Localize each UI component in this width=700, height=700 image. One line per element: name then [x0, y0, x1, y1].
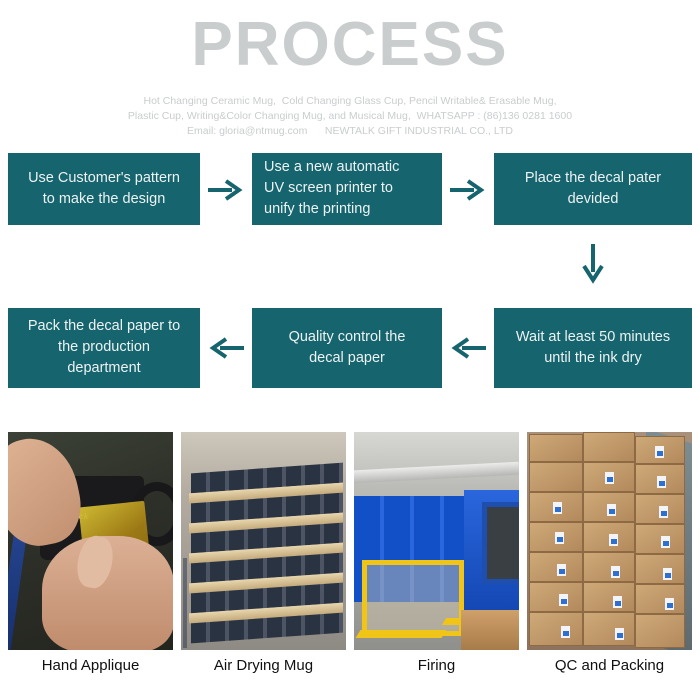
process-step-2-label: Use a new automatic UV screen printer to… [264, 157, 430, 220]
header: PROCESS Hot Changing Ceramic Mug, Cold C… [0, 0, 700, 140]
arrow-left-icon-2 [203, 328, 249, 368]
process-step-5-label: Quality control the decal paper [264, 327, 430, 369]
process-step-6-label: Wait at least 50 minutes until the ink d… [506, 327, 680, 369]
caption-firing: Firing [354, 652, 519, 692]
photo4-carton [583, 582, 635, 612]
process-step-1: Use Customer's pattern to make the desig… [8, 153, 200, 225]
photo4-shipping-label [557, 564, 566, 576]
photo4-shipping-label [605, 472, 614, 484]
photo4-carton [635, 614, 685, 648]
photo4-carton [583, 552, 635, 582]
process-step-3: Place the decal pater devided [494, 153, 692, 225]
photo4-carton [583, 432, 635, 462]
arrow-right-icon-2 [445, 170, 491, 210]
process-step-5: Quality control the decal paper [252, 308, 442, 388]
photo-hand-applique: ASRock [8, 432, 173, 650]
caption-air-drying-mug: Air Drying Mug [181, 652, 346, 692]
process-flow-diagram: Use Customer's pattern to make the desig… [0, 148, 700, 403]
photo4-shipping-label [657, 476, 666, 488]
photo4-carton [635, 554, 685, 584]
photo3-floor-marking [356, 630, 447, 638]
photo4-carton [529, 582, 583, 612]
photo-strip: ASRock [0, 432, 700, 650]
process-step-6: Wait at least 50 minutes until the ink d… [494, 308, 692, 388]
company-info-line-1: Hot Changing Ceramic Mug, Cold Changing … [0, 94, 700, 109]
photo4-shipping-label [609, 534, 618, 546]
photo4-carton [529, 462, 583, 492]
photo4-carton [529, 434, 583, 462]
company-info-line-2: Plastic Cup, Writing&Color Changing Mug,… [0, 109, 700, 124]
photo4-shipping-label [553, 502, 562, 514]
photo-captions: Hand Applique Air Drying Mug Firing QC a… [0, 652, 700, 692]
photo4-carton [529, 552, 583, 582]
photo4-shipping-label [661, 536, 670, 548]
company-info-line-3: Email: gloria@ntmug.com NEWTALK GIFT IND… [0, 124, 700, 139]
photo4-shipping-label [561, 626, 570, 638]
photo3-oven-opening [482, 502, 519, 584]
photo4-shipping-label [555, 532, 564, 544]
photo3-carton [461, 610, 519, 650]
photo4-carton [635, 524, 685, 554]
arrow-down-icon [570, 234, 616, 294]
photo4-shipping-label [559, 594, 568, 606]
process-step-4: Pack the decal paper to the production d… [8, 308, 200, 388]
caption-qc-and-packing: QC and Packing [527, 652, 692, 692]
photo4-shipping-label [655, 446, 664, 458]
caption-hand-applique: Hand Applique [8, 652, 173, 692]
photo4-shipping-label [659, 506, 668, 518]
arrow-right-icon-1 [203, 170, 249, 210]
photo4-carton [635, 584, 685, 614]
photo-qc-and-packing [527, 432, 692, 650]
photo4-shipping-label [607, 504, 616, 516]
photo-air-drying-mug [181, 432, 346, 650]
photo4-shipping-label [665, 598, 674, 610]
photo4-shipping-label [663, 568, 672, 580]
photo4-shipping-label [613, 596, 622, 608]
photo-firing [354, 432, 519, 650]
process-step-4-label: Pack the decal paper to the production d… [20, 316, 188, 379]
process-step-1-label: Use Customer's pattern to make the desig… [20, 168, 188, 210]
arrow-left-icon-1 [445, 328, 491, 368]
photo4-shipping-label [615, 628, 624, 640]
photo4-shipping-label [611, 566, 620, 578]
process-step-3-label: Place the decal pater devided [506, 168, 680, 210]
process-step-2: Use a new automatic UV screen printer to… [252, 153, 442, 225]
page-title: PROCESS [0, 8, 700, 78]
company-info: Hot Changing Ceramic Mug, Cold Changing … [0, 94, 700, 140]
photo4-carton [529, 612, 583, 646]
photo4-carton [583, 612, 635, 646]
